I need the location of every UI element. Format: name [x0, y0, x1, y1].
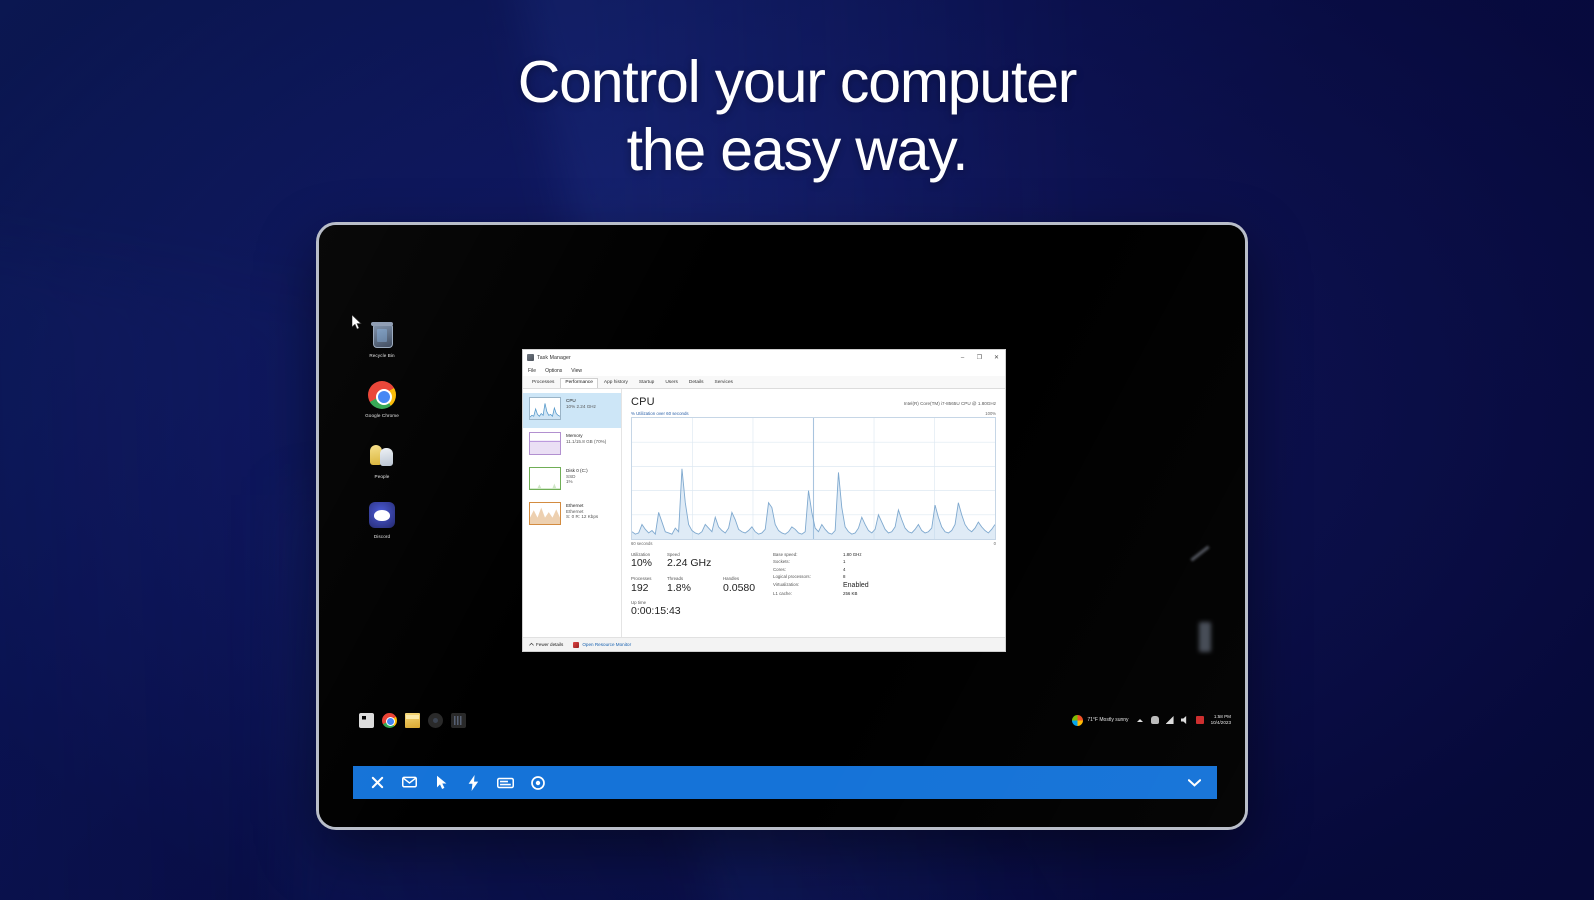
sidebar-item-value: 11.1/15.8 GB (70%): [566, 439, 606, 445]
task-manager-app-icon: [527, 354, 534, 361]
desktop-icon-label: Discord: [347, 534, 417, 539]
task-manager-menu-bar: File Options View: [523, 365, 1005, 376]
taskbar-start-button[interactable]: [359, 713, 374, 728]
stat-spacer: [723, 552, 763, 569]
taskbar-weather-widget[interactable]: 71°F Mostly sunny: [1072, 715, 1128, 726]
cpu-detail-panel: CPU Intel(R) Core(TM) i7-8565U CPU @ 1.8…: [622, 389, 1005, 637]
detail-value: 1.80 GHz: [843, 552, 871, 558]
resource-monitor-icon: [573, 642, 579, 648]
desktop-icon-label: Recycle Bin: [347, 353, 417, 358]
people-icon: [367, 442, 397, 472]
cpu-statistics: Utilization 10% Speed 2.24 GHz Processes…: [631, 552, 996, 598]
resource-monitor-label: Open Resource Monitor: [582, 642, 631, 647]
stat-value: 2.24 GHz: [667, 557, 719, 569]
recycle-bin-icon: [367, 321, 397, 351]
weather-label: 71°F Mostly sunny: [1087, 717, 1128, 723]
task-manager-status-bar: Fewer details Open Resource Monitor: [523, 637, 1005, 651]
cursor-icon: [436, 775, 448, 790]
window-controls: – ❐ ✕: [954, 350, 1005, 365]
tray-network-icon[interactable]: [1166, 716, 1174, 724]
sidebar-item-disk-text: Disk 0 (C:) SSD 1%: [566, 467, 588, 485]
ethernet-thumbnail-graph: [529, 502, 561, 525]
stat-value: 0.0580: [723, 582, 763, 594]
open-resource-monitor-link[interactable]: Open Resource Monitor: [573, 642, 631, 648]
window-title: Task Manager: [537, 355, 571, 361]
taskbar-pinned-apps: [319, 713, 466, 728]
chat-icon: [402, 776, 417, 789]
cursor-button[interactable]: [433, 774, 450, 791]
settings-gear-icon: [531, 776, 545, 790]
graph-axis-labels: 60 seconds 0: [631, 541, 996, 546]
sidebar-item-label: Disk 0 (C:): [566, 468, 588, 474]
discord-icon: [367, 502, 397, 532]
detail-label: Base speed:: [773, 552, 839, 558]
graph-max-label: 100%: [985, 411, 996, 416]
sidebar-item-memory[interactable]: Memory 11.1/15.8 GB (70%): [523, 428, 621, 463]
chevron-up-icon: [529, 642, 534, 647]
tray-battery-icon[interactable]: [1196, 716, 1204, 724]
graph-caption: % Utilization over 60 seconds: [631, 411, 689, 416]
detail-value: 1: [843, 559, 871, 565]
stat-threads: Threads 1.8%: [667, 576, 719, 593]
device-screen: Recycle Bin Google Chrome People Discord…: [319, 225, 1245, 827]
task-manager-title-bar[interactable]: Task Manager – ❐ ✕: [523, 350, 1005, 365]
detail-label: Sockets:: [773, 559, 839, 565]
keyboard-button[interactable]: [497, 774, 514, 791]
tray-volume-icon[interactable]: [1181, 716, 1189, 724]
detail-label: Virtualization:: [773, 582, 839, 590]
cpu-utilization-chart: [631, 417, 996, 540]
menu-item-file[interactable]: File: [528, 368, 536, 374]
tablet-device-frame: Recycle Bin Google Chrome People Discord…: [316, 222, 1248, 830]
power-actions-button[interactable]: [465, 774, 482, 791]
close-session-button[interactable]: [369, 774, 386, 791]
uptime-value: 0:00:15:43: [631, 605, 996, 617]
page-headline: Control your computer the easy way.: [0, 52, 1594, 180]
graph-x-start-label: 60 seconds: [631, 541, 652, 546]
weather-icon: [1072, 715, 1083, 726]
desktop-icon-discord[interactable]: Discord: [347, 502, 417, 539]
disk-thumbnail-graph: [529, 467, 561, 490]
cpu-primary-stats: Utilization 10% Speed 2.24 GHz Processes…: [631, 552, 763, 598]
graph-caption-row: % Utilization over 60 seconds 100%: [631, 411, 996, 416]
taskbar-chrome-icon[interactable]: [382, 713, 397, 728]
detail-label: L1 cache:: [773, 591, 839, 597]
remote-control-buttons: [353, 774, 546, 791]
graph-x-end-label: 0: [994, 541, 996, 546]
detail-value: Enabled: [843, 582, 871, 590]
cpu-panel-header: CPU Intel(R) Core(TM) i7-8565U CPU @ 1.8…: [631, 396, 996, 408]
sidebar-item-value: 1%: [566, 479, 588, 485]
fewer-details-label: Fewer details: [536, 642, 563, 647]
menu-item-options[interactable]: Options: [545, 368, 562, 374]
chat-button[interactable]: [401, 774, 418, 791]
task-manager-tab-strip: Processes Performance App history Startu…: [523, 376, 1005, 389]
mouse-cursor-icon: [352, 315, 363, 330]
tab-services[interactable]: Services: [710, 378, 738, 388]
tray-show-hidden-icon[interactable]: [1136, 716, 1144, 724]
tab-details[interactable]: Details: [684, 378, 709, 388]
headline-line-2: the easy way.: [0, 120, 1594, 180]
memory-thumbnail-graph: [529, 432, 561, 455]
chrome-icon: [367, 381, 397, 411]
sidebar-item-ethernet[interactable]: Ethernet Ethernet S: 0 R: 12 Kbps: [523, 498, 621, 533]
desktop-icon-label: People: [347, 474, 417, 479]
stat-value: 192: [631, 582, 663, 594]
task-manager-window[interactable]: Task Manager – ❐ ✕ File Options View Pro…: [522, 349, 1006, 652]
headline-line-1: Control your computer: [0, 52, 1594, 112]
settings-button[interactable]: [529, 774, 546, 791]
taskbar-clock[interactable]: 1:58 PM 10/4/2023: [1211, 714, 1231, 725]
close-button[interactable]: ✕: [988, 350, 1005, 365]
clock-date: 10/4/2023: [1211, 720, 1231, 726]
tab-performance[interactable]: Performance: [560, 378, 597, 388]
collapse-toolbar-button[interactable]: [1188, 779, 1217, 787]
stat-utilization: Utilization 10%: [631, 552, 663, 569]
desktop-icon-google-chrome[interactable]: Google Chrome: [347, 381, 417, 418]
system-tray: 71°F Mostly sunny 1:58 PM 10/4/2023: [1072, 714, 1245, 725]
stat-value: 10%: [631, 557, 663, 569]
sidebar-item-ethernet-text: Ethernet Ethernet S: 0 R: 12 Kbps: [566, 502, 598, 520]
menu-item-view[interactable]: View: [571, 368, 582, 374]
screen-glare-bottom: [1199, 622, 1211, 652]
chevron-down-icon: [1188, 779, 1201, 787]
stat-speed: Speed 2.24 GHz: [667, 552, 719, 569]
detail-value: 256 KB: [843, 591, 871, 597]
detail-label: Logical processors:: [773, 574, 839, 580]
task-manager-body: CPU 10% 2.24 GHz Memory: [523, 389, 1005, 637]
sidebar-item-memory-text: Memory 11.1/15.8 GB (70%): [566, 432, 606, 444]
stat-processes: Processes 192: [631, 576, 663, 593]
taskbar-settings-icon[interactable]: [428, 713, 443, 728]
cpu-heading: CPU: [631, 396, 655, 408]
tab-users[interactable]: Users: [660, 378, 683, 388]
cpu-thumbnail-graph: [529, 397, 561, 420]
performance-resource-list: CPU 10% 2.24 GHz Memory: [523, 389, 622, 637]
detail-value: 8: [843, 574, 871, 580]
maximize-button[interactable]: ❐: [971, 350, 988, 365]
stat-handles: Handles 0.0580: [723, 576, 763, 593]
taskbar-file-explorer-icon[interactable]: [405, 713, 420, 728]
power-icon: [468, 775, 479, 791]
detail-value: 4: [843, 567, 871, 573]
desktop-icon-label: Google Chrome: [347, 413, 417, 418]
sidebar-item-value: 10% 2.24 GHz: [566, 404, 596, 410]
sidebar-item-cpu[interactable]: CPU 10% 2.24 GHz: [523, 393, 621, 428]
tab-app-history[interactable]: App history: [599, 378, 633, 388]
fewer-details-button[interactable]: Fewer details: [529, 642, 563, 647]
cpu-chart-svg: [632, 418, 995, 539]
cpu-detail-stats: Base speed: 1.80 GHz Sockets: 1 Cores: 4…: [773, 552, 871, 598]
minimize-button[interactable]: –: [954, 350, 971, 365]
remote-control-toolbar[interactable]: [353, 766, 1217, 799]
stat-value: 1.8%: [667, 582, 719, 594]
tray-cloud-icon[interactable]: [1151, 716, 1159, 724]
sidebar-item-disk[interactable]: Disk 0 (C:) SSD 1%: [523, 463, 621, 498]
cpu-uptime: Up time 0:00:15:43: [631, 600, 996, 617]
close-session-icon: [371, 776, 384, 789]
taskbar-task-manager-icon[interactable]: [451, 713, 466, 728]
tab-startup[interactable]: Startup: [634, 378, 659, 388]
sidebar-item-value: S: 0 R: 12 Kbps: [566, 514, 598, 520]
detail-label: Cores:: [773, 567, 839, 573]
tab-processes[interactable]: Processes: [527, 378, 559, 388]
windows-taskbar: 71°F Mostly sunny 1:58 PM 10/4/2023: [319, 705, 1245, 735]
desktop-icon-list: Recycle Bin Google Chrome People Discord: [347, 321, 417, 562]
desktop-icon-people[interactable]: People: [347, 442, 417, 479]
cpu-model-name: Intel(R) Core(TM) i7-8565U CPU @ 1.80GHz: [904, 401, 996, 406]
keyboard-icon: [497, 777, 514, 789]
sidebar-item-cpu-text: CPU 10% 2.24 GHz: [566, 397, 596, 409]
screen-glare-top: [1190, 546, 1209, 562]
